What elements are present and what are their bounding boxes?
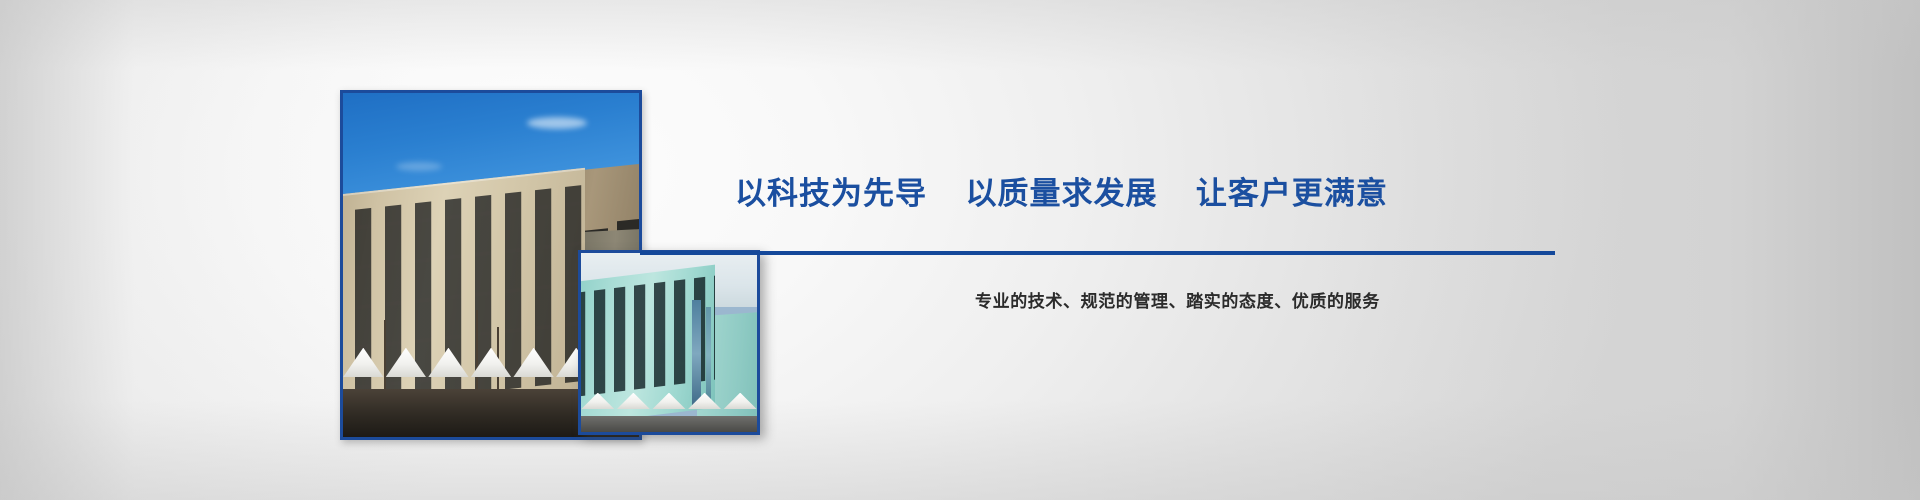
canopy-tent	[343, 348, 384, 389]
ground-strip	[581, 416, 757, 432]
cloud-shape	[527, 117, 587, 129]
canopy-tent-row	[581, 393, 757, 416]
canopy-tent	[428, 348, 469, 389]
canopy-tent	[513, 348, 554, 389]
banner-divider	[640, 251, 1555, 255]
banner-subheadline: 专业的技术、规范的管理、踏实的态度、优质的服务	[975, 287, 1380, 312]
canopy-tent	[688, 393, 722, 416]
canopy-tent	[723, 393, 757, 416]
banner-headline: 以科技为先导 以质量求发展 让客户更满意	[735, 168, 1388, 213]
photo-secondary-content	[581, 253, 757, 432]
canopy-tent	[652, 393, 686, 416]
building-photo-secondary[interactable]	[578, 250, 760, 435]
glass-curtain-strip	[706, 307, 711, 404]
canopy-tent	[471, 348, 512, 389]
cloud-shape	[396, 162, 442, 171]
hero-banner: 以科技为先导 以质量求发展 让客户更满意 专业的技术、规范的管理、踏实的态度、优…	[0, 0, 1920, 500]
canopy-tent	[617, 393, 651, 416]
canopy-tent	[386, 348, 427, 389]
canopy-tent	[581, 393, 615, 416]
glass-curtain-strip	[692, 300, 701, 407]
